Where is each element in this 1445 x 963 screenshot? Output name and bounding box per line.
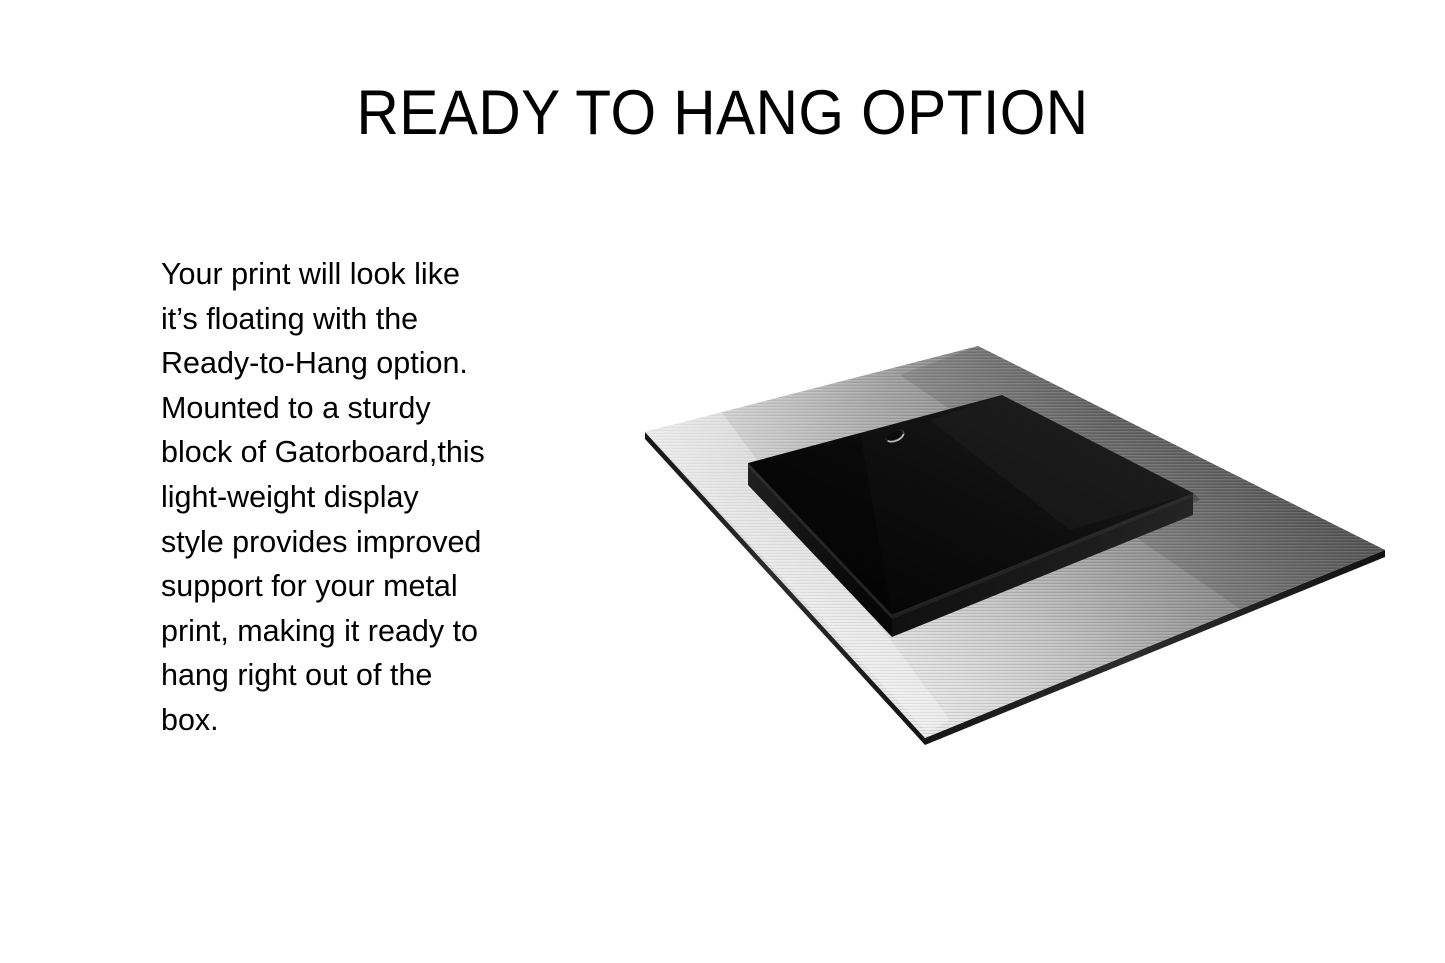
body-copy-block: Your print will look like it’s floating … <box>161 252 561 743</box>
body-copy-line: hang right out of the <box>161 653 561 698</box>
body-copy-line: Your print will look like <box>161 252 561 297</box>
body-copy-line: print, making it ready to <box>161 609 561 654</box>
body-copy-line: Mounted to a sturdy <box>161 386 561 431</box>
body-copy-line: box. <box>161 698 561 743</box>
slide-canvas: READY TO HANG OPTION Your print will loo… <box>0 0 1445 963</box>
ready-to-hang-illustration <box>600 320 1420 770</box>
body-copy-line: support for your metal <box>161 564 561 609</box>
product-photo <box>600 320 1420 770</box>
body-copy-line: block of Gatorboard,this <box>161 430 561 475</box>
body-copy-line: Ready-to-Hang option. <box>161 341 561 386</box>
body-copy-line: light-weight display <box>161 475 561 520</box>
page-title: READY TO HANG OPTION <box>51 82 1395 145</box>
body-copy-line: style provides improved <box>161 520 561 565</box>
body-copy-line: it’s floating with the <box>161 297 561 342</box>
